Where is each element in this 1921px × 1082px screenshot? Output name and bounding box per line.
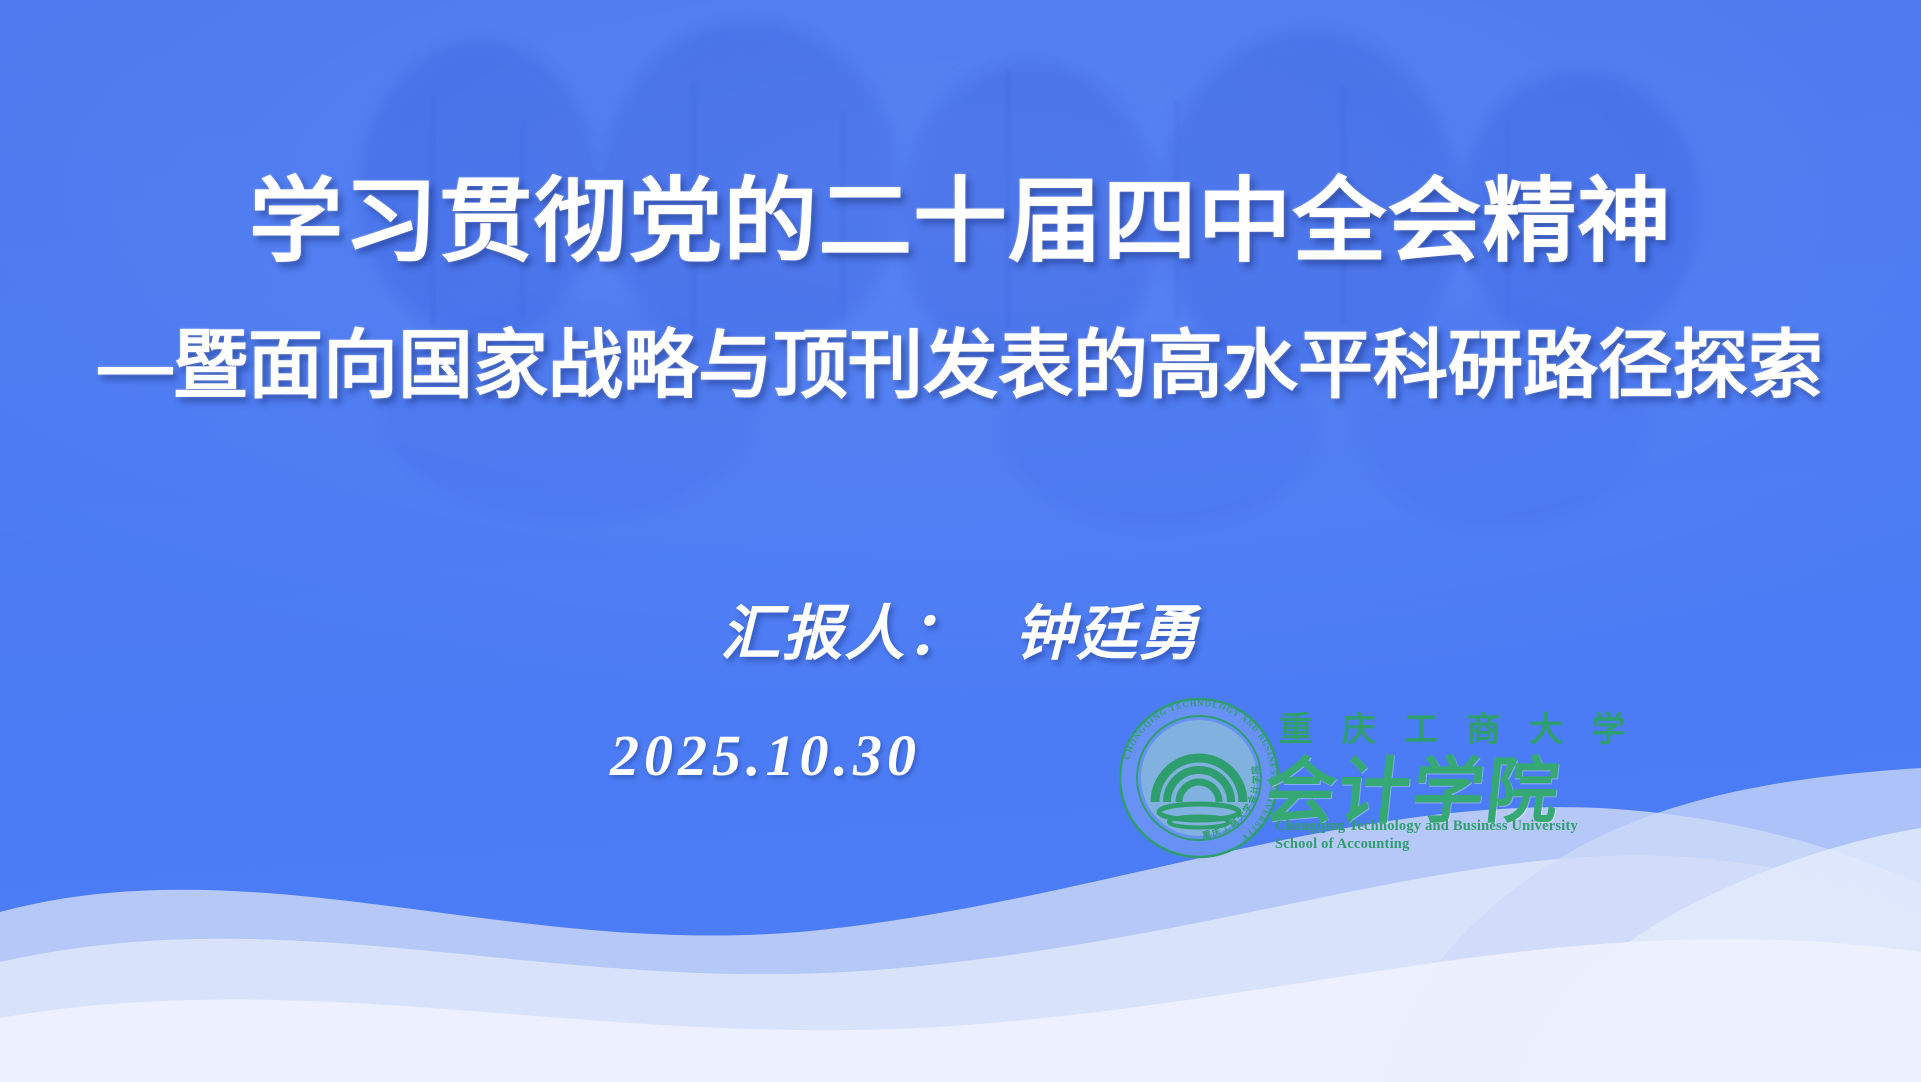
slide-date: 2025.10.30 bbox=[610, 722, 1130, 789]
presenter-name: 钟廷勇 bbox=[1015, 600, 1201, 667]
presenter-label: 汇报人： bbox=[721, 600, 969, 667]
slide-title-line1: 学习贯彻党的二十届四中全会精神 bbox=[0, 176, 1921, 268]
slide-title-line2: —暨面向国家战略与顶刊发表的高水平科研路径探索 bbox=[0, 328, 1921, 403]
university-seal-icon: CHONGQING TECHNOLOGY AND BUSINESS UNIVER… bbox=[1115, 694, 1283, 862]
wordmark-en-line2: School of Accounting bbox=[1275, 836, 1615, 853]
wordmark-en-line1: Chongqing Technology and Business Univer… bbox=[1275, 818, 1615, 835]
presentation-slide: 学习贯彻党的二十届四中全会精神 —暨面向国家战略与顶刊发表的高水平科研路径探索 … bbox=[0, 0, 1921, 1082]
presenter-line: 汇报人：钟廷勇 bbox=[0, 585, 1921, 672]
university-wordmark: 重 庆 工 商 大 学 会计学院 Chongqing Technology an… bbox=[1265, 690, 1615, 890]
university-logo: CHONGQING TECHNOLOGY AND BUSINESS UNIVER… bbox=[1115, 690, 1615, 910]
